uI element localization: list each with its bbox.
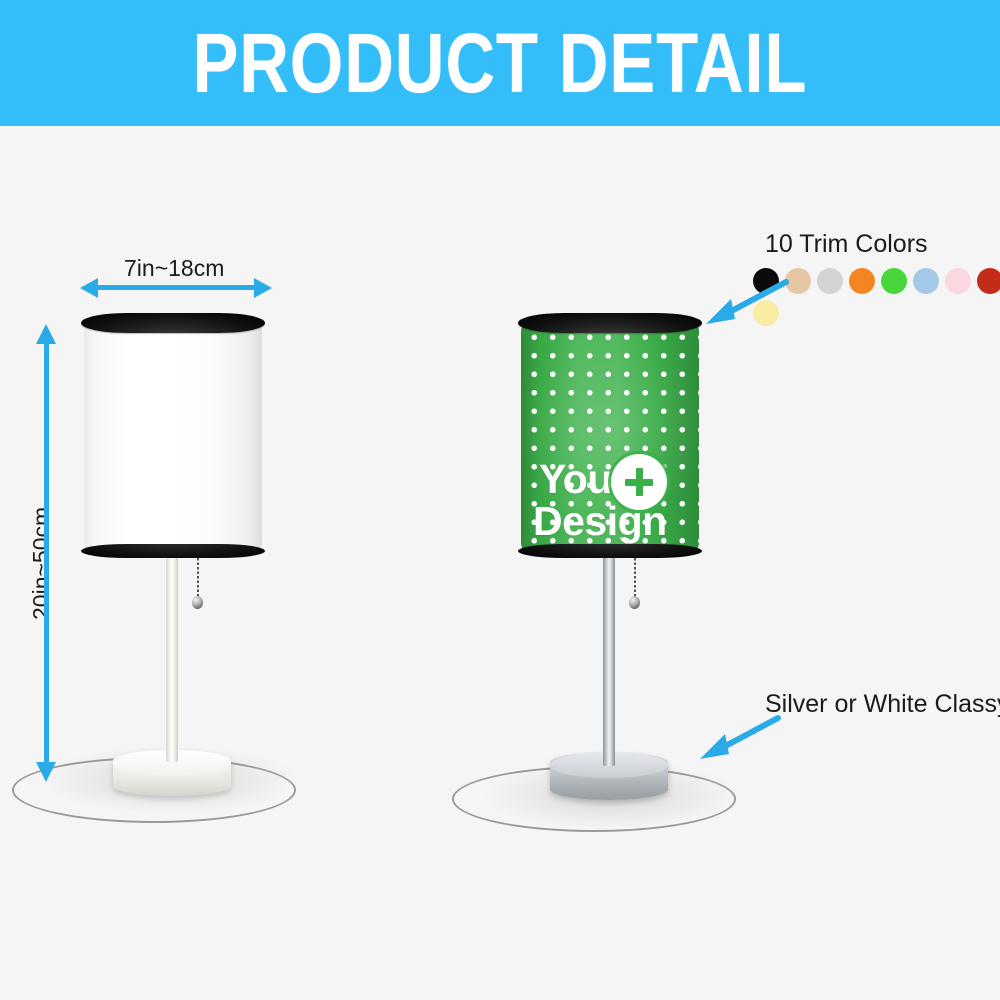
design-lamp-trim-top <box>518 313 702 333</box>
trim-callout-arrow <box>700 278 790 326</box>
height-label: 20in~50cm <box>28 507 55 620</box>
base-arrow-icon <box>694 714 784 762</box>
page-title: PRODUCT DETAIL <box>193 21 808 105</box>
trim-swatch-dark-red[interactable] <box>977 268 1000 294</box>
base-callout-arrow <box>694 714 784 762</box>
white-lamp-pole <box>166 556 178 762</box>
white-lamp-shade-surface <box>84 322 262 552</box>
width-arrow-line <box>96 285 256 290</box>
design-lamp-pull-chain[interactable] <box>634 558 636 600</box>
trim-color-swatches <box>753 268 1000 326</box>
design-lamp-pole <box>603 556 615 766</box>
trim-colors-label: 10 Trim Colors <box>765 230 928 259</box>
trim-swatch-light-blue[interactable] <box>913 268 939 294</box>
trim-swatch-light-gray[interactable] <box>817 268 843 294</box>
trim-swatch-orange[interactable] <box>849 268 875 294</box>
design-lamp-trim-bottom <box>518 544 702 558</box>
height-arrow-line <box>44 342 49 766</box>
width-arrow-head-left <box>80 278 98 298</box>
trim-swatch-pink[interactable] <box>945 268 971 294</box>
base-finish-label: Silver or White Classy <box>765 690 1000 719</box>
white-lamp-pull-chain-bead[interactable] <box>192 596 203 609</box>
height-arrow-head-bottom <box>36 762 56 782</box>
design-text-line2: Design <box>533 499 667 544</box>
product-detail-canvas: PRODUCT DETAIL 7in~18cm 20in~50cm <box>0 0 1000 1000</box>
white-lamp-shade <box>84 322 262 552</box>
width-arrow-head-right <box>254 278 272 298</box>
design-lamp-pull-chain-bead[interactable] <box>629 596 640 609</box>
header-banner: PRODUCT DETAIL <box>0 0 1000 126</box>
white-lamp-trim-top <box>81 313 265 333</box>
design-lamp-shade: Your Design <box>521 322 699 552</box>
width-label: 7in~18cm <box>124 255 224 282</box>
white-lamp-pull-chain[interactable] <box>197 558 199 600</box>
trim-swatch-green[interactable] <box>881 268 907 294</box>
trim-arrow-icon <box>700 278 790 326</box>
height-arrow-head-top <box>36 324 56 344</box>
white-lamp-trim-bottom <box>81 544 265 558</box>
